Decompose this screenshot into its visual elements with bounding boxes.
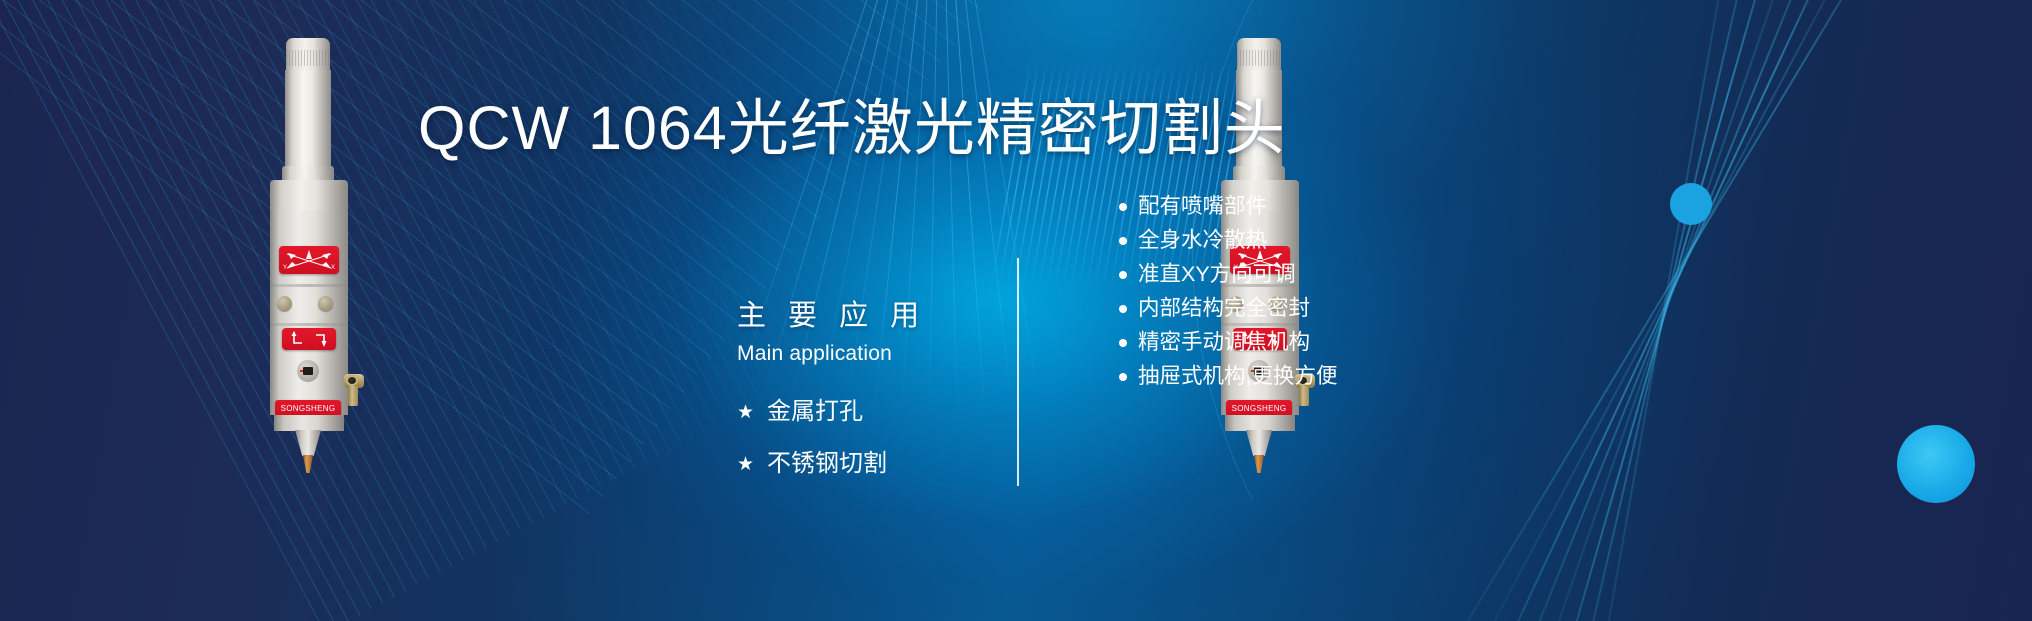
cyan-dot-small	[1670, 183, 1712, 225]
feature-item-label: 全身水冷散热	[1138, 230, 1267, 252]
head-seam-upper	[270, 284, 348, 287]
bullet-icon	[1119, 271, 1127, 279]
head-base	[1225, 415, 1295, 431]
feature-item-label: 准直XY方向可调	[1138, 264, 1296, 286]
feature-item-label: 配有喷嘴部件	[1138, 196, 1267, 218]
gas-fitting	[344, 374, 364, 404]
feature-item-label: 精密手动调焦机构	[1138, 332, 1310, 354]
xy-alignment-icon: Y X	[279, 246, 339, 274]
head-seam-lower	[270, 323, 348, 326]
head-body	[270, 210, 348, 415]
bullet-icon	[1119, 339, 1127, 347]
adjust-knob-right	[318, 296, 333, 311]
fitting-port	[346, 375, 358, 386]
cyan-dot-large	[1897, 425, 1975, 503]
focus-adjust-icon	[282, 328, 336, 350]
feature-item: 准直XY方向可调	[1119, 264, 1539, 286]
bullet-icon	[1119, 373, 1127, 381]
brand-label-text: SONGSHENG	[1232, 404, 1287, 413]
brand-label-text: SONGSHENG	[281, 404, 336, 413]
axis-label-y: Y	[283, 265, 287, 271]
application-item: ★金属打孔	[737, 400, 1007, 424]
vertical-divider	[1017, 258, 1019, 486]
main-application-heading-en: Main application	[737, 342, 1007, 366]
head-shoulder	[270, 180, 348, 212]
feature-item: 内部结构完全密封	[1119, 298, 1539, 320]
head-cap	[1237, 38, 1281, 72]
nozzle-icon	[297, 360, 319, 382]
bullet-icon	[1119, 305, 1127, 313]
application-list: ★金属打孔★不锈钢切割	[737, 400, 1007, 476]
main-application-block: 主 要 应 用 Main application ★金属打孔★不锈钢切割	[737, 298, 1007, 504]
fitting-stem	[348, 386, 358, 406]
bullet-icon	[1119, 237, 1127, 245]
head-base	[274, 415, 344, 431]
feature-item: 配有喷嘴部件	[1119, 196, 1539, 218]
adjust-knob-left	[277, 296, 292, 311]
main-application-heading-cn: 主 要 应 用	[737, 298, 1007, 334]
banner-title: QCW 1064光纤激光精密切割头	[418, 97, 1598, 160]
application-item-label: 金属打孔	[767, 400, 863, 424]
star-icon: ★	[737, 455, 754, 474]
star-icon: ★	[737, 403, 754, 422]
application-item: ★不锈钢切割	[737, 452, 1007, 476]
bullet-icon	[1119, 203, 1127, 211]
head-cap	[286, 38, 330, 72]
application-item-label: 不锈钢切割	[767, 452, 887, 476]
head-neck	[285, 70, 331, 168]
feature-item-label: 内部结构完全密封	[1138, 298, 1310, 320]
axis-label-x: X	[331, 265, 335, 271]
feature-item: 抽屉式机构,更换方便	[1119, 366, 1539, 388]
product-banner: Y X SONGSHENG	[0, 0, 2032, 621]
feature-item-label: 抽屉式机构,更换方便	[1138, 366, 1337, 388]
feature-item: 精密手动调焦机构	[1119, 332, 1539, 354]
feature-item: 全身水冷散热	[1119, 230, 1539, 252]
feature-list: 配有喷嘴部件全身水冷散热准直XY方向可调内部结构完全密封精密手动调焦机构抽屉式机…	[1119, 196, 1539, 401]
